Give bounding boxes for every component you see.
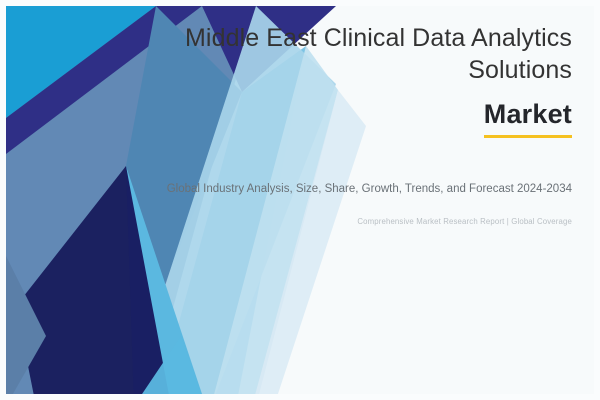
page-title: Middle East Clinical Data Analytics Solu… (152, 22, 572, 86)
market-heading: Market (484, 100, 572, 138)
report-subtitle: Global Industry Analysis, Size, Share, G… (152, 180, 572, 198)
cover-text-block: Middle East Clinical Data Analytics Solu… (152, 22, 572, 228)
report-cover-page: Middle East Clinical Data Analytics Solu… (0, 0, 600, 400)
market-heading-wrap: Market (152, 100, 572, 138)
report-caption: Comprehensive Market Research Report | G… (152, 216, 572, 228)
